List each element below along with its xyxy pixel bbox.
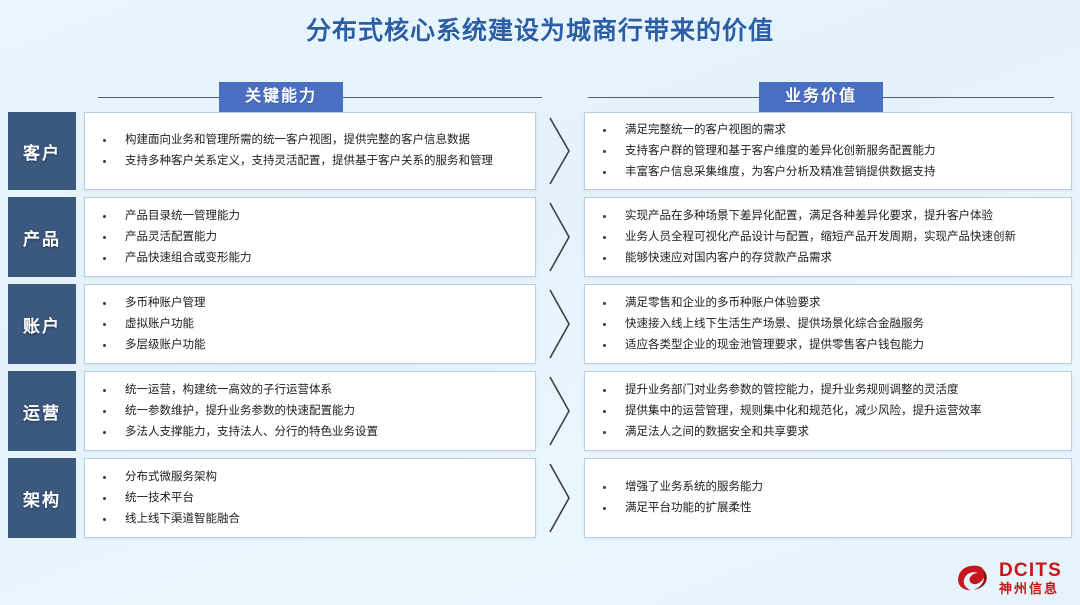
list-item: 能够快速应对国内客户的存贷款产品需求	[599, 251, 1061, 266]
list-item: 产品快速组合或变形能力	[99, 251, 525, 266]
chevron-right-icon	[548, 462, 572, 534]
capability-list-2: 多币种账户管理 虚拟账户功能 多层级账户功能	[99, 290, 525, 359]
list-item: 快速接入线上线下生活生产场景、提供场景化综合金融服务	[599, 317, 1061, 332]
list-item: 多层级账户功能	[99, 338, 525, 353]
chevron-right-icon	[548, 116, 572, 186]
company-logo: DCITS 神州信息	[956, 561, 1062, 595]
list-item: 产品灵活配置能力	[99, 230, 525, 245]
chevron-right-icon	[548, 288, 572, 360]
capability-card-3: 统一运营，构建统一高效的子行运营体系 统一参数维护，提升业务参数的快速配置能力 …	[84, 371, 536, 451]
arrow-connector-2	[536, 284, 584, 364]
value-list-0: 满足完整统一的客户视图的需求 支持客户群的管理和基于客户维度的差异化创新服务配置…	[599, 117, 1061, 186]
value-card-4: 增强了业务系统的服务能力 满足平台功能的扩展柔性	[584, 458, 1072, 538]
row-label-4: 架构	[8, 458, 76, 538]
value-list-2: 满足零售和企业的多币种账户体验要求 快速接入线上线下生活生产场景、提供场景化综合…	[599, 290, 1061, 359]
value-card-1: 实现产品在多种场景下差异化配置，满足各种差异化要求，提升客户体验 业务人员全程可…	[584, 197, 1072, 277]
arrow-connector-0	[536, 112, 584, 190]
logo-text: DCITS 神州信息	[999, 561, 1062, 595]
table-row: 运营 统一运营，构建统一高效的子行运营体系 统一参数维护，提升业务参数的快速配置…	[0, 371, 1080, 451]
table-row: 账户 多币种账户管理 虚拟账户功能 多层级账户功能 满足零售和企业的多币种账户体…	[0, 284, 1080, 364]
table-row: 客户 构建面向业务和管理所需的统一客户视图，提供完整的客户信息数据 支持多种客户…	[0, 112, 1080, 190]
dcits-swirl-icon	[956, 563, 992, 593]
list-item: 满足法人之间的数据安全和共享要求	[599, 425, 1061, 440]
value-card-0: 满足完整统一的客户视图的需求 支持客户群的管理和基于客户维度的差异化创新服务配置…	[584, 112, 1072, 190]
list-item: 支持多种客户关系定义，支持灵活配置，提供基于客户关系的服务和管理	[99, 154, 525, 169]
list-item: 满足零售和企业的多币种账户体验要求	[599, 296, 1061, 311]
capability-list-3: 统一运营，构建统一高效的子行运营体系 统一参数维护，提升业务参数的快速配置能力 …	[99, 377, 525, 446]
column-header-capabilities: 关键能力	[0, 82, 562, 112]
list-item: 虚拟账户功能	[99, 317, 525, 332]
capability-list-4: 分布式微服务架构 统一技术平台 线上线下渠道智能融合	[99, 464, 525, 533]
list-item: 实现产品在多种场景下差异化配置，满足各种差异化要求，提升客户体验	[599, 209, 1061, 224]
rows-container: 客户 构建面向业务和管理所需的统一客户视图，提供完整的客户信息数据 支持多种客户…	[0, 112, 1080, 545]
list-item: 满足平台功能的扩展柔性	[599, 501, 1061, 516]
list-item: 分布式微服务架构	[99, 470, 525, 485]
value-list-4: 增强了业务系统的服务能力 满足平台功能的扩展柔性	[599, 474, 1061, 522]
list-item: 构建面向业务和管理所需的统一客户视图，提供完整的客户信息数据	[99, 133, 525, 148]
arrow-connector-4	[536, 458, 584, 538]
arrow-connector-1	[536, 197, 584, 277]
arrow-connector-3	[536, 371, 584, 451]
list-item: 统一技术平台	[99, 491, 525, 506]
column-header-capabilities-label: 关键能力	[219, 82, 343, 112]
value-list-1: 实现产品在多种场景下差异化配置，满足各种差异化要求，提升客户体验 业务人员全程可…	[599, 203, 1061, 272]
capability-card-1: 产品目录统一管理能力 产品灵活配置能力 产品快速组合或变形能力	[84, 197, 536, 277]
list-item: 统一运营，构建统一高效的子行运营体系	[99, 383, 525, 398]
list-item: 增强了业务系统的服务能力	[599, 480, 1061, 495]
capability-card-4: 分布式微服务架构 统一技术平台 线上线下渠道智能融合	[84, 458, 536, 538]
value-list-3: 提升业务部门对业务参数的管控能力，提升业务规则调整的灵活度 提供集中的运营管理，…	[599, 377, 1061, 446]
row-label-3: 运营	[8, 371, 76, 451]
page-title: 分布式核心系统建设为城商行带来的价值	[0, 0, 1080, 48]
row-label-1: 产品	[8, 197, 76, 277]
capability-list-0: 构建面向业务和管理所需的统一客户视图，提供完整的客户信息数据 支持多种客户关系定…	[99, 127, 525, 175]
column-header-values: 业务价值	[562, 82, 1080, 112]
list-item: 多币种账户管理	[99, 296, 525, 311]
chevron-right-icon	[548, 375, 572, 447]
list-item: 产品目录统一管理能力	[99, 209, 525, 224]
list-item: 丰富客户信息采集维度，为客户分析及精准营销提供数据支持	[599, 165, 1061, 180]
value-card-2: 满足零售和企业的多币种账户体验要求 快速接入线上线下生活生产场景、提供场景化综合…	[584, 284, 1072, 364]
logo-text-chinese: 神州信息	[999, 582, 1062, 595]
table-row: 产品 产品目录统一管理能力 产品灵活配置能力 产品快速组合或变形能力 实现产品在…	[0, 197, 1080, 277]
capability-list-1: 产品目录统一管理能力 产品灵活配置能力 产品快速组合或变形能力	[99, 203, 525, 272]
column-headers: 关键能力 业务价值	[0, 82, 1080, 112]
list-item: 适应各类型企业的现金池管理要求，提供零售客户钱包能力	[599, 338, 1061, 353]
capability-card-0: 构建面向业务和管理所需的统一客户视图，提供完整的客户信息数据 支持多种客户关系定…	[84, 112, 536, 190]
list-item: 多法人支撑能力，支持法人、分行的特色业务设置	[99, 425, 525, 440]
chevron-right-icon	[548, 201, 572, 273]
capability-card-2: 多币种账户管理 虚拟账户功能 多层级账户功能	[84, 284, 536, 364]
list-item: 支持客户群的管理和基于客户维度的差异化创新服务配置能力	[599, 144, 1061, 159]
value-card-3: 提升业务部门对业务参数的管控能力，提升业务规则调整的灵活度 提供集中的运营管理，…	[584, 371, 1072, 451]
list-item: 满足完整统一的客户视图的需求	[599, 123, 1061, 138]
column-header-values-label: 业务价值	[759, 82, 883, 112]
list-item: 提升业务部门对业务参数的管控能力，提升业务规则调整的灵活度	[599, 383, 1061, 398]
row-label-2: 账户	[8, 284, 76, 364]
logo-text-english: DCITS	[999, 561, 1062, 580]
list-item: 线上线下渠道智能融合	[99, 512, 525, 527]
list-item: 提供集中的运营管理，规则集中化和规范化，减少风险，提升运营效率	[599, 404, 1061, 419]
list-item: 统一参数维护，提升业务参数的快速配置能力	[99, 404, 525, 419]
row-label-0: 客户	[8, 112, 76, 190]
table-row: 架构 分布式微服务架构 统一技术平台 线上线下渠道智能融合 增强了业务系统的服务…	[0, 458, 1080, 538]
list-item: 业务人员全程可视化产品设计与配置，缩短产品开发周期，实现产品快速创新	[599, 230, 1061, 245]
